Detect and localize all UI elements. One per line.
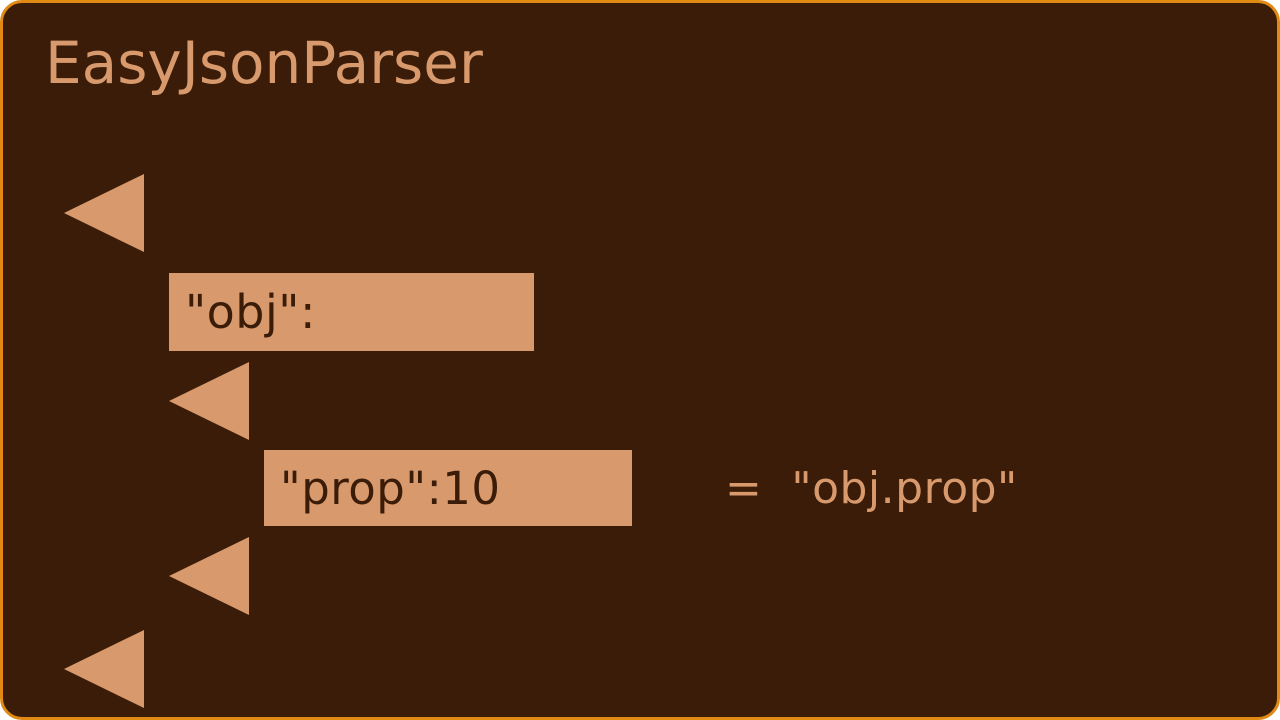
json-tree: "obj": "prop":10 = "obj.prop" <box>3 3 1280 720</box>
triangle-left-icon[interactable] <box>169 537 249 615</box>
triangle-left-icon[interactable] <box>169 362 249 440</box>
path-annotation: = "obj.prop" <box>725 467 1018 511</box>
triangle-left-icon[interactable] <box>64 630 144 708</box>
token-obj-key[interactable]: "obj": <box>169 273 534 351</box>
token-prop-entry[interactable]: "prop":10 <box>264 450 632 526</box>
app-window: EasyJsonParser "obj": "prop":10 = "obj.p… <box>0 0 1280 720</box>
triangle-left-icon[interactable] <box>64 174 144 252</box>
